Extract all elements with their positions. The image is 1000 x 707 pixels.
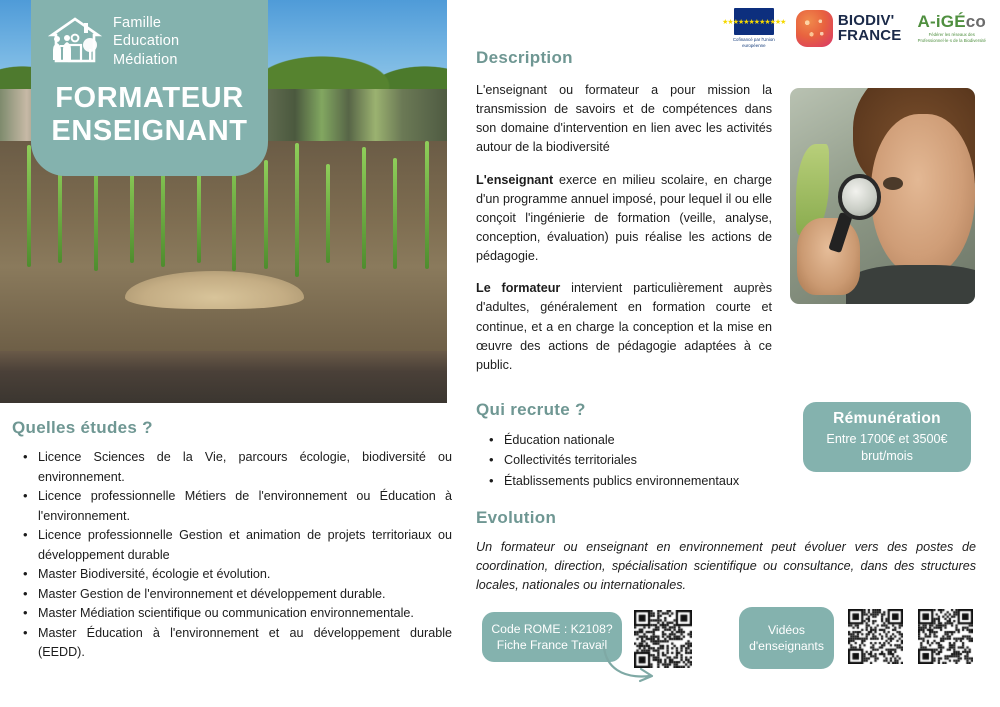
aigeco-ige: iGÉ (936, 12, 966, 31)
description-paragraph-3: Le formateur intervient particulièrement… (476, 279, 772, 375)
qr-code-rome[interactable] (634, 610, 692, 668)
biodiv-mark-icon (796, 10, 833, 47)
eu-funding-logo: ★★★★★★★★★★★★ Cofinancé par l'Union europ… (728, 8, 780, 48)
a-igeco-logo: A-iGÉco Fédérer les réseaux des Professi… (918, 13, 986, 44)
list-item: Master Éducation à l'environnement et au… (12, 624, 452, 663)
biodiv-line2: FRANCE (838, 28, 902, 43)
evolution-text: Un formateur ou enseignant en environnem… (476, 538, 976, 595)
brand-line-education: Education (113, 32, 179, 50)
qr-code-video-2[interactable] (918, 609, 973, 664)
remuneration-period: brut/mois (826, 448, 947, 464)
evolution-heading: Evolution (476, 508, 976, 528)
quelles-etudes-section: Quelles études ? Licence Sciences de la … (12, 418, 452, 663)
brand-words: Famille Education Médiation (113, 14, 179, 69)
code-rome-line1: Code ROME : K2108? (491, 621, 612, 637)
description-lead-3: Le formateur (476, 281, 560, 295)
brand-row: Famille Education Médiation (31, 0, 268, 69)
list-item: Collectivités territoriales (476, 450, 806, 470)
code-rome-line2: Fiche France Travail (497, 637, 607, 653)
qui-recrute-section: Qui recrute ? Éducation nationale Collec… (476, 400, 806, 491)
biodiv-line1: BIODIV' (838, 13, 902, 28)
list-item: Licence Sciences de la Vie, parcours éco… (12, 448, 452, 487)
description-paragraph-2: L'enseignant exerce en milieu scolaire, … (476, 171, 772, 267)
remuneration-range: Entre 1700€ et 3500€ (826, 431, 947, 447)
page-title-line2: ENSEIGNANT (31, 115, 268, 148)
biodiv-france-logo: BIODIV' FRANCE (796, 10, 902, 47)
hero-straw-mound (125, 271, 304, 309)
qui-recrute-heading: Qui recrute ? (476, 400, 806, 420)
logo-strip: ★★★★★★★★★★★★ Cofinancé par l'Union europ… (728, 8, 986, 48)
brand-panel: Famille Education Médiation FORMATEUR EN… (31, 0, 268, 176)
portrait-hand (797, 218, 860, 296)
quelles-etudes-list: Licence Sciences de la Vie, parcours éco… (12, 448, 452, 663)
remuneration-details: Entre 1700€ et 3500€ brut/mois (826, 431, 947, 463)
description-heading: Description (476, 48, 772, 68)
description-lead-2: L'enseignant (476, 173, 553, 187)
woman-with-magnifying-glass-photo (790, 88, 975, 304)
list-item: Master Biodiversité, écologie et évoluti… (12, 565, 452, 585)
biodiv-text: BIODIV' FRANCE (838, 13, 902, 43)
description-section: Description L'enseignant ou formateur a … (476, 48, 772, 375)
eu-caption: Cofinancé par l'Union européenne (728, 37, 780, 48)
quelles-etudes-heading: Quelles études ? (12, 418, 452, 438)
videos-line2: d'enseignants (749, 638, 824, 654)
list-item: Master Gestion de l'environnement et dév… (12, 585, 452, 605)
aigeco-wordmark: A-iGÉco (918, 13, 986, 30)
list-item: Licence professionnelle Gestion et anima… (12, 526, 452, 565)
description-paragraph-1: L'enseignant ou formateur a pour mission… (476, 81, 772, 158)
portrait-shoulder (846, 265, 976, 304)
eu-stars: ★★★★★★★★★★★★ (722, 18, 785, 26)
house-family-icon (46, 15, 104, 67)
aigeco-tagline-2: Professionnel·le·s de la Biodiversité (918, 38, 986, 44)
evolution-section: Evolution Un formateur ou enseignant en … (476, 508, 976, 595)
portrait-eye (883, 177, 903, 190)
brand-line-mediation: Médiation (113, 51, 179, 69)
page-title-line1: FORMATEUR (31, 82, 268, 115)
remuneration-title: Rémunération (833, 410, 941, 428)
aigeco-tagline: Fédérer les réseaux des Professionnel·le… (918, 32, 986, 44)
qr-code-video-1[interactable] (848, 609, 903, 664)
aigeco-a: A- (918, 12, 936, 31)
remuneration-box: Rémunération Entre 1700€ et 3500€ brut/m… (803, 402, 971, 472)
hero-water (0, 351, 447, 403)
brand-line-famille: Famille (113, 14, 179, 32)
videos-enseignants-box[interactable]: Vidéos d'enseignants (739, 607, 834, 669)
magnifying-glass-icon (838, 174, 881, 219)
videos-line1: Vidéos (768, 622, 805, 638)
qui-recrute-list: Éducation nationale Collectivités territ… (476, 430, 806, 491)
portrait-face (871, 114, 975, 278)
list-item: Éducation nationale (476, 430, 806, 450)
aigeco-co: co (966, 12, 986, 31)
list-item: Établissements publics environnementaux (476, 471, 806, 491)
page-title: FORMATEUR ENSEIGNANT (31, 82, 268, 148)
list-item: Licence professionnelle Métiers de l'env… (12, 487, 452, 526)
list-item: Master Médiation scientifique ou communi… (12, 604, 452, 624)
eu-flag-icon: ★★★★★★★★★★★★ (734, 8, 774, 35)
